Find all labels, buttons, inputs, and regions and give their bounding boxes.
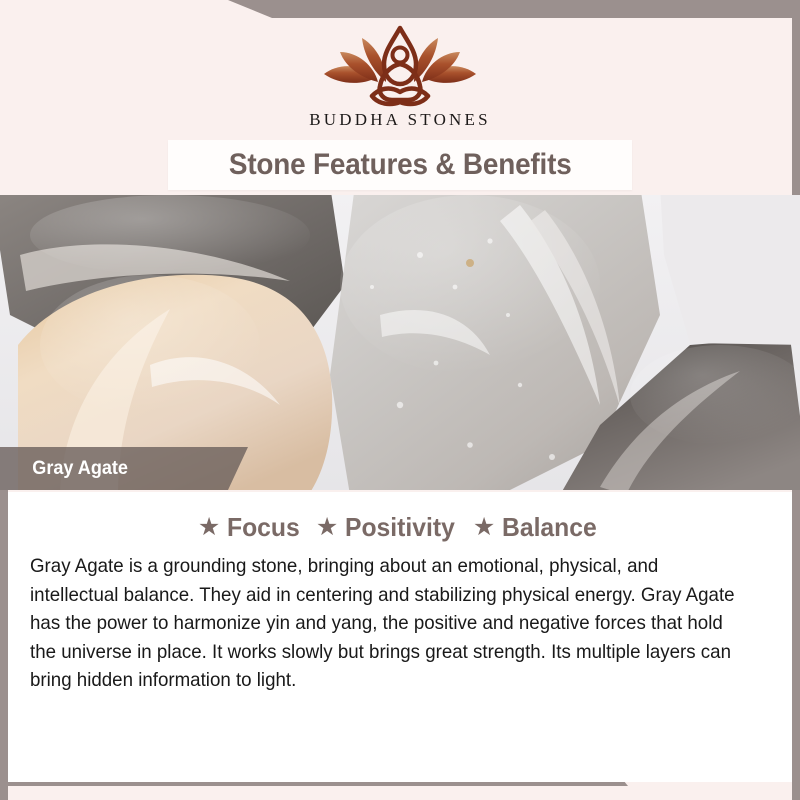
description-panel: ★ Focus ★ Positivity ★ Balance Gray Agat… — [8, 492, 792, 782]
title-banner: Stone Features & Benefits — [168, 140, 632, 190]
stone-photo — [0, 195, 800, 490]
benefit-item-positivity: ★ Positivity — [316, 512, 461, 543]
benefit-item-balance: ★ Balance — [473, 512, 602, 543]
stone-description-text: Gray Agate is a grounding stone, bringin… — [30, 552, 744, 695]
lotus-meditation-figure-logo-icon — [310, 22, 490, 108]
stone-name-label: Gray Agate — [0, 447, 248, 490]
stone-photo-illustration — [0, 195, 800, 490]
benefit-label: Focus — [227, 512, 300, 543]
star-icon: ★ — [473, 515, 495, 540]
benefit-label: Positivity — [345, 512, 455, 543]
benefit-item-focus: ★ Focus — [198, 512, 304, 543]
star-icon: ★ — [316, 515, 338, 540]
decorative-border-left — [0, 490, 8, 800]
star-icon: ★ — [198, 515, 220, 540]
brand-logo-block: BUDDHA STONES — [0, 22, 800, 130]
benefits-row: ★ Focus ★ Positivity ★ Balance — [8, 492, 792, 543]
stone-info-card: BUDDHA STONES Stone Features & Benefits — [0, 0, 800, 800]
benefit-label: Balance — [502, 512, 597, 543]
page-title: Stone Features & Benefits — [229, 148, 572, 182]
brand-name: BUDDHA STONES — [0, 110, 800, 130]
stone-name-text: Gray Agate — [0, 458, 128, 480]
stone-description: Gray Agate is a grounding stone, bringin… — [30, 552, 744, 695]
